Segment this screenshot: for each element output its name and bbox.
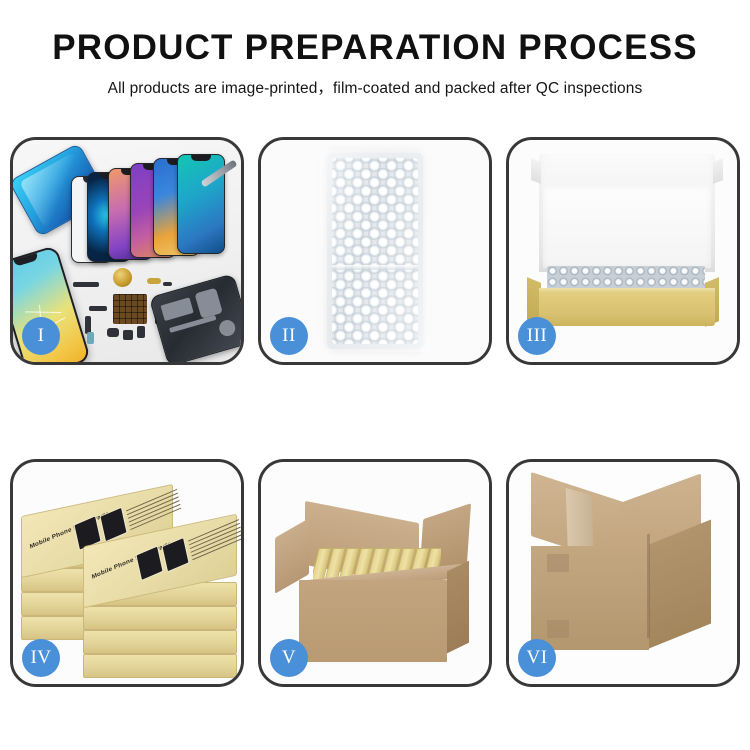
vibrator-part-icon [137, 326, 145, 338]
step-badge-2: II [270, 317, 308, 355]
carton-front-panel [299, 580, 447, 662]
button-part-icon [163, 282, 172, 286]
step-panel-3: III [506, 137, 740, 365]
box-spec-lines [188, 519, 241, 563]
battery-part-icon [87, 332, 94, 344]
product-preparation-infographic: PRODUCT PREPARATION PROCESS All products… [0, 0, 750, 750]
connector-part-icon [73, 282, 99, 287]
speaker-part-icon [113, 268, 132, 287]
ic-chip-icon [123, 330, 133, 340]
carton-seam [547, 554, 569, 572]
step-panel-6: VI [506, 459, 740, 687]
step-panel-5: V [258, 459, 492, 687]
step-badge-6: VI [518, 639, 556, 677]
carton-side-panel [447, 561, 469, 654]
flex-cable-icon [147, 278, 161, 284]
page-subtitle: All products are image-printed，film-coat… [0, 76, 750, 98]
camera-part-icon [107, 328, 119, 337]
stacked-box [83, 654, 237, 678]
chip-array-icon [113, 294, 147, 324]
wrap-seam [331, 265, 419, 270]
bubble-wrap-package [327, 153, 423, 349]
mailer-box-front [539, 292, 715, 326]
bubble-wrap-texture [332, 158, 418, 344]
page-title: PRODUCT PREPARATION PROCESS [0, 30, 750, 65]
stacked-box [83, 606, 237, 630]
header: PRODUCT PREPARATION PROCESS All products… [0, 0, 750, 98]
carton-seam [547, 620, 569, 638]
step-badge-1: I [22, 317, 60, 355]
step-panel-1: I [10, 137, 244, 365]
step-badge-5: V [270, 639, 308, 677]
foam-padding [543, 186, 711, 268]
carton-edge [647, 533, 650, 638]
stacked-box [83, 630, 237, 654]
step-badge-3: III [518, 317, 556, 355]
step-badge-4: IV [22, 639, 60, 677]
step-panel-2: II [258, 137, 492, 365]
phone-fan-group [73, 152, 241, 262]
bracket-part-icon [89, 306, 107, 311]
process-steps-grid: I II III [10, 137, 740, 687]
step-panel-4: Mobile Phone Spare Parts Mobile [10, 459, 244, 687]
